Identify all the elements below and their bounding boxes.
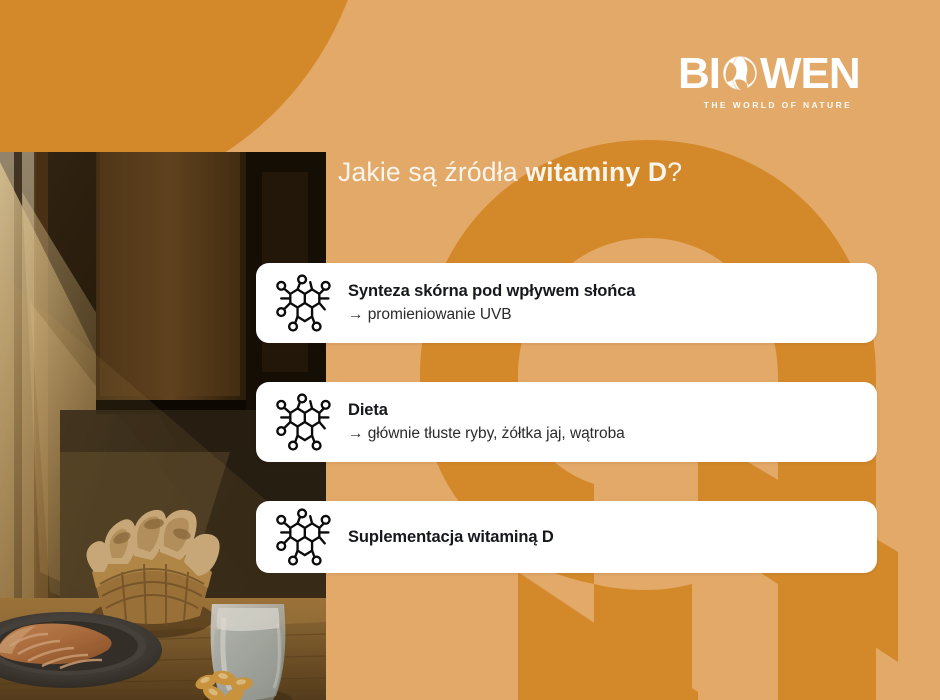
card-title: Suplementacja witaminą D [348,527,859,548]
brand-tagline: THE WORLD OF NATURE [678,100,878,110]
molecule-icon-glyph [274,274,332,332]
card-subtitle: → promieniowanie UVB [348,305,859,325]
brand-logo: BI WEN THE WORLD OF NATURE [678,50,878,112]
molecule-icon [272,391,334,453]
card-title: Synteza skórna pod wpływem słońca [348,281,859,302]
molecule-icon [272,272,334,334]
svg-text:WEN: WEN [760,50,860,98]
page-title-lead: Jakie są źródła [338,157,525,187]
page-title-strong: witaminy D [525,157,667,187]
molecule-icon-glyph [274,508,332,566]
card-text-block: Suplementacja witaminą D [348,527,877,548]
card-subtitle-text: promieniowanie UVB [363,306,511,323]
source-card-suplementacja[interactable]: Suplementacja witaminą D [256,501,877,573]
card-subtitle-text: głównie tłuste ryby, żółtka jaj, wątroba [363,425,624,442]
molecule-icon-glyph [274,393,332,451]
biowen-wordmark: BI WEN [678,50,878,98]
svg-text:BI: BI [678,50,720,98]
page-title-tail: ? [667,157,682,187]
molecule-icon [272,506,334,568]
card-text-block: Synteza skórna pod wpływem słońca → prom… [348,281,877,325]
source-card-synteza-skorna[interactable]: Synteza skórna pod wpływem słońca → prom… [256,263,877,343]
card-text-block: Dieta → głównie tłuste ryby, żółtka jaj,… [348,400,877,444]
page-title: Jakie są źródła witaminy D? [338,157,682,188]
arrow-icon: → [348,425,363,442]
globe-icon [723,56,757,90]
card-title: Dieta [348,400,859,421]
infographic-canvas: BI WEN THE WORLD OF NATURE Jakie są źród… [0,0,940,700]
card-subtitle: → głównie tłuste ryby, żółtka jaj, wątro… [348,424,859,444]
source-card-dieta[interactable]: Dieta → głównie tłuste ryby, żółtka jaj,… [256,382,877,462]
arrow-icon: → [348,306,363,323]
